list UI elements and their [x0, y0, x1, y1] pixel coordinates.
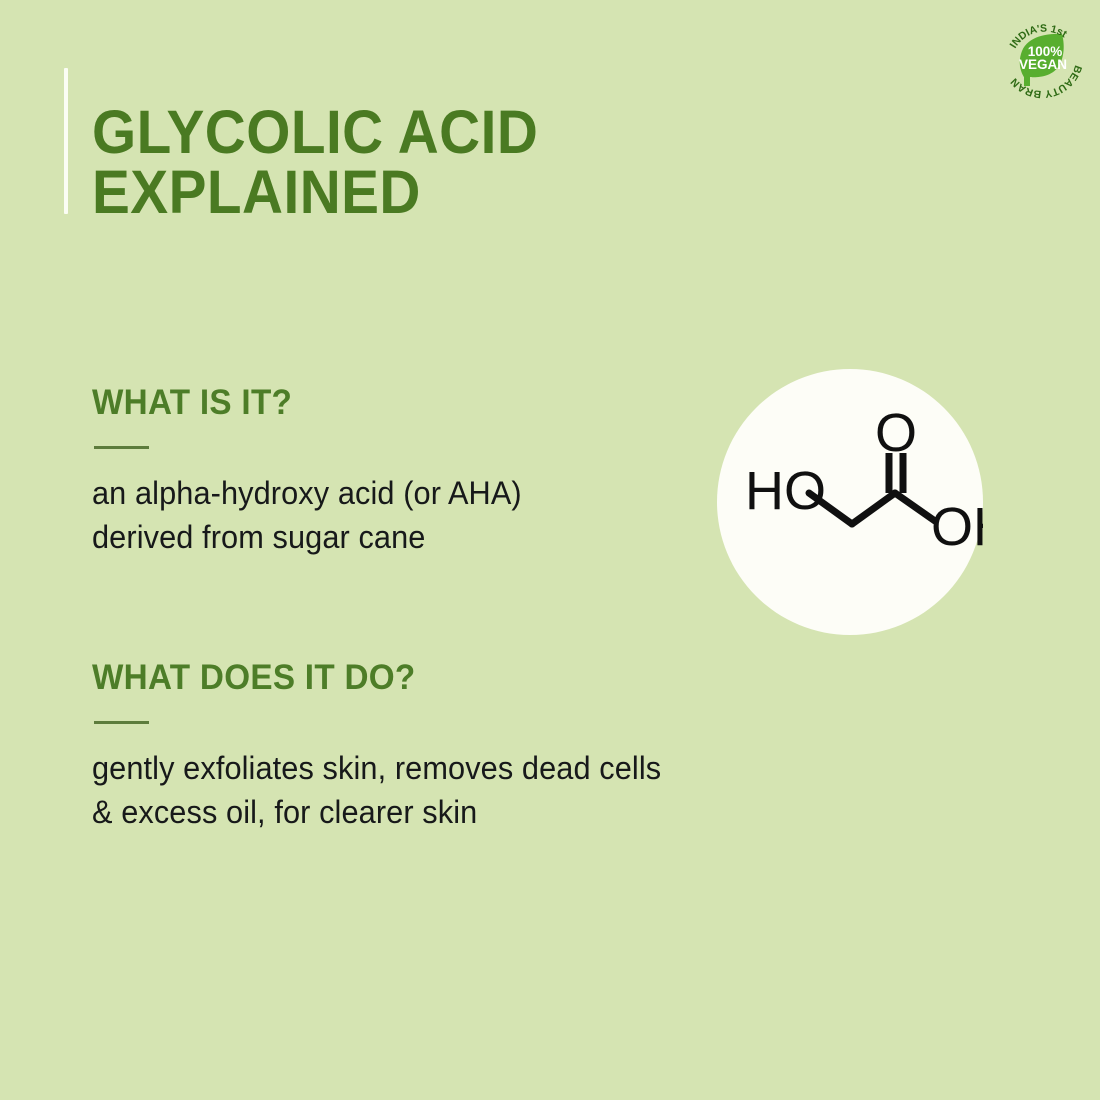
section-rule-what-is-it [94, 446, 149, 449]
molecule-circle: HO O OH [717, 369, 983, 635]
page-title: GLYCOLIC ACID EXPLAINED [92, 103, 687, 223]
glycolic-acid-structure-icon: HO O OH [717, 369, 983, 635]
page-title-line-1: GLYCOLIC ACID [92, 103, 687, 163]
molecule-label-left: HO [745, 461, 826, 521]
poster-canvas: GLYCOLIC ACID EXPLAINED WHAT IS IT? an a… [0, 0, 1100, 1100]
section-what-does-it-do: WHAT DOES IT DO? gently exfoliates skin,… [92, 660, 712, 866]
molecule-label-top: O [875, 403, 917, 463]
section-heading-what-is-it: WHAT IS IT? [92, 385, 681, 420]
section-body-what-does-it-do: gently exfoliates skin, removes dead cel… [92, 746, 687, 834]
section-what-is-it: WHAT IS IT? an alpha-hydroxy acid (or AH… [92, 385, 712, 591]
section-heading-what-does-it-do: WHAT DOES IT DO? [92, 660, 681, 695]
section-body-what-is-it: an alpha-hydroxy acid (or AHA) derived f… [92, 471, 687, 559]
vegan-badge-icon: 100% VEGAN INDIA'S 1st BEAUTY BRAND [1000, 14, 1086, 100]
vegan-badge: 100% VEGAN INDIA'S 1st BEAUTY BRAND [1000, 14, 1086, 100]
title-accent-bar [64, 68, 68, 214]
section-rule-what-does-it-do [94, 721, 149, 724]
badge-leaf-line-2: VEGAN [1019, 57, 1067, 72]
page-title-line-2: EXPLAINED [92, 163, 687, 223]
molecule-label-right: OH [931, 497, 983, 557]
